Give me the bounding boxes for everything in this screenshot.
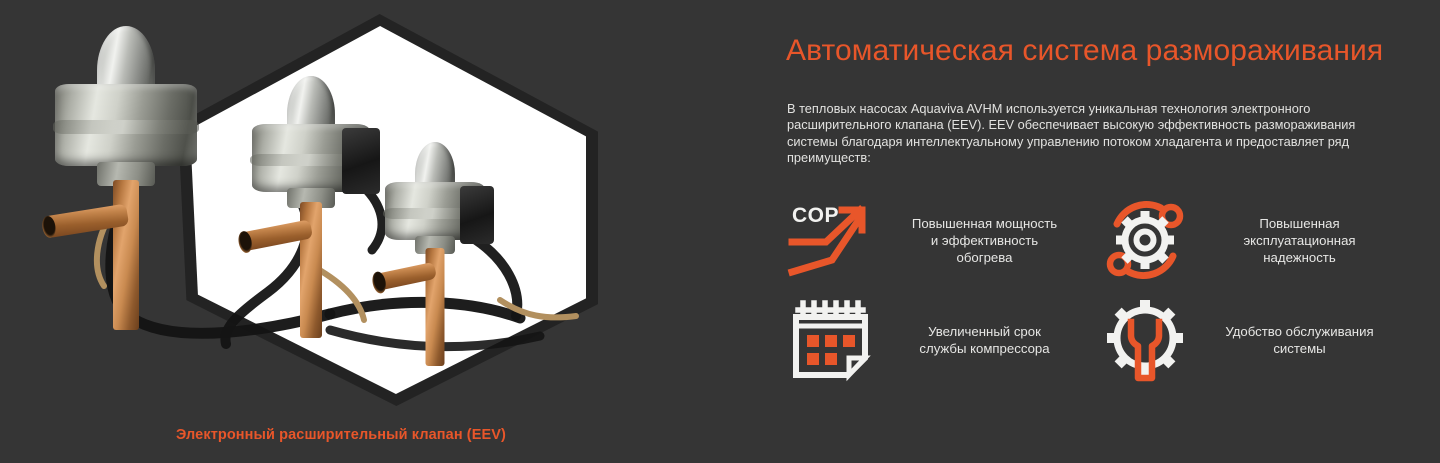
feature-item-heating-power: COP Повышенная мощность и эффективность … <box>786 190 1101 290</box>
feature-item-compressor-lifetime: Увеличенный срок службы компрессора <box>786 290 1101 390</box>
page-title: Автоматическая система размораживания <box>786 34 1383 68</box>
gear-orbit-reliability-icon <box>1101 198 1189 282</box>
content-panel: Автоматическая система размораживания В … <box>786 0 1416 463</box>
cop-growth-arrow-icon: COP <box>786 198 874 282</box>
feature-item-service-convenience: Удобство обслуживания системы <box>1101 290 1416 390</box>
eev-valve-3 <box>372 140 498 370</box>
feature-label-line: Повышенная <box>1189 215 1410 232</box>
valve-ring <box>53 120 199 134</box>
feature-label: Увеличенный срок службы компрессора <box>874 323 1101 357</box>
eev-valve-2 <box>238 74 384 354</box>
feature-label-line: обогрева <box>874 249 1095 266</box>
feature-label-line: Удобство обслуживания <box>1189 323 1410 340</box>
feature-label-line: эксплуатационная <box>1189 232 1410 249</box>
gear-orbit-graphic <box>1101 198 1189 282</box>
calendar-graphic <box>786 298 874 382</box>
feature-label: Повышенная мощность и эффективность обог… <box>874 215 1101 266</box>
feature-label-line: Увеличенный срок <box>874 323 1095 340</box>
feature-grid: COP Повышенная мощность и эффективность … <box>786 190 1416 390</box>
cop-arrow-graphic <box>786 198 874 282</box>
product-caption: Электронный расширительный клапан (EEV) <box>176 427 506 443</box>
feature-label-line: системы <box>1189 340 1410 357</box>
feature-row: Увеличенный срок службы компрессора <box>786 290 1416 390</box>
gear-wrench-service-icon <box>1101 298 1189 382</box>
promo-banner: Электронный расширительный клапан (EEV) … <box>0 0 1440 463</box>
valve-copper-stem <box>113 180 139 330</box>
valve-solenoid-coil <box>460 186 494 244</box>
feature-label-line: службы компрессора <box>874 340 1095 357</box>
eev-valve-1 <box>36 24 216 324</box>
feature-label-line: надежность <box>1189 249 1410 266</box>
feature-label: Повышенная эксплуатационная надежность <box>1189 215 1416 266</box>
calendar-icon <box>786 298 874 382</box>
intro-paragraph: В тепловых насосах Aquaviva AVHM использ… <box>787 101 1399 167</box>
feature-label-line: Повышенная мощность <box>874 215 1095 232</box>
feature-label-line: и эффективность <box>874 232 1095 249</box>
feature-label: Удобство обслуживания системы <box>1189 323 1416 357</box>
product-image-panel: Электронный расширительный клапан (EEV) <box>0 0 740 463</box>
feature-item-reliability: Повышенная эксплуатационная надежность <box>1101 190 1416 290</box>
feature-row: COP Повышенная мощность и эффективность … <box>786 190 1416 290</box>
gear-wrench-graphic <box>1101 298 1189 382</box>
